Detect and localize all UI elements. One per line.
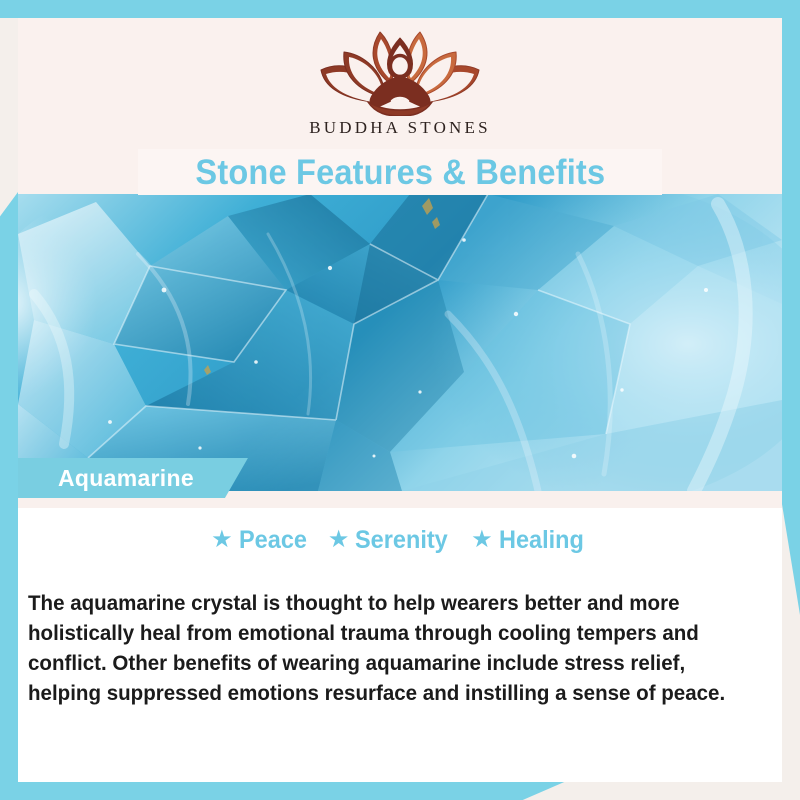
feature-item-peace: ★ Peace	[211, 528, 311, 553]
feature-label-serenity: Serenity	[355, 528, 448, 553]
poster-root: BUDDHA STONES	[0, 0, 800, 800]
star-icon: ★	[211, 528, 233, 552]
frame-band-top	[0, 0, 800, 18]
page-title: Stone Features & Benefits	[195, 155, 605, 190]
feature-item-healing: ★ Healing	[471, 528, 589, 553]
feature-item-serenity: ★ Serenity	[328, 528, 454, 553]
feature-list: ★ Peace ★ Serenity ★ Healing	[18, 528, 782, 553]
brand-logo: BUDDHA STONES	[18, 24, 782, 138]
brand-wordmark: BUDDHA STONES	[309, 118, 491, 138]
inner-page: BUDDHA STONES	[18, 18, 782, 782]
crystal-illustration	[18, 194, 782, 491]
feature-label-healing: Healing	[499, 528, 584, 553]
frame-band-right	[782, 0, 800, 615]
star-icon: ★	[471, 528, 493, 552]
title-banner: Stone Features & Benefits	[138, 149, 662, 195]
frame-band-left	[0, 192, 18, 800]
aquamarine-crystal-photo	[18, 194, 782, 491]
feature-label-peace: Peace	[239, 528, 307, 553]
lotus-meditation-figure-icon	[310, 24, 490, 116]
description-paragraph: The aquamarine crystal is thought to hel…	[28, 588, 742, 708]
stone-name-badge: Aquamarine	[18, 458, 248, 498]
stone-name-label: Aquamarine	[58, 465, 194, 492]
body-section: ★ Peace ★ Serenity ★ Healing The aquamar…	[18, 508, 782, 782]
star-icon: ★	[328, 528, 350, 552]
